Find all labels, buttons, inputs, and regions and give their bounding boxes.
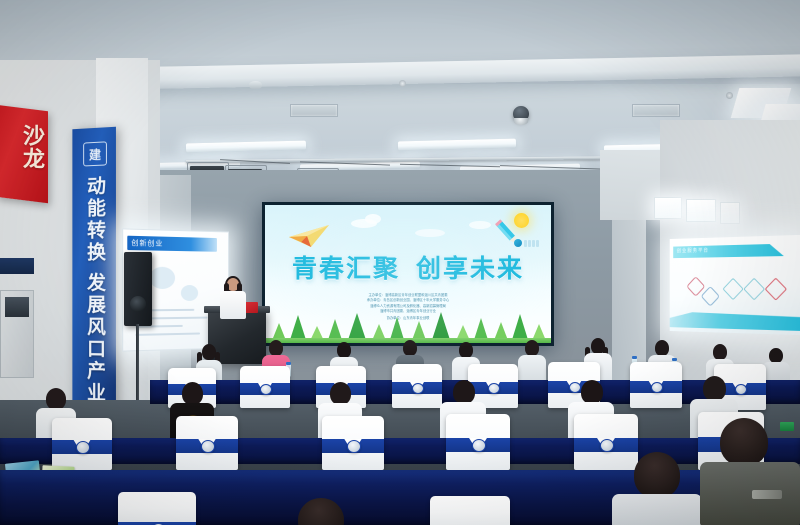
lightbox-header-text: 创新创业: [131, 238, 163, 249]
dome-camera-lens: [514, 118, 528, 125]
cloud-icon: [365, 214, 381, 224]
screen-brand-mark: [514, 239, 539, 247]
lightbox-graphic: [149, 267, 175, 289]
audience-chair: [176, 416, 238, 470]
shirt-logo: [752, 490, 782, 499]
chair-buckle: [600, 439, 614, 452]
presentation-title: 青春汇聚创享未来: [265, 249, 551, 285]
wall-unit-screen: [5, 297, 29, 317]
diamond-icon: [701, 286, 720, 307]
alert-diamond-icon: [765, 277, 788, 300]
smoke-detector-icon: [249, 81, 262, 89]
audience-chair: [240, 366, 290, 408]
attendee: [518, 340, 546, 384]
audience-chair: [322, 416, 384, 470]
clerestory-window: [686, 199, 716, 222]
presenter-body: [220, 291, 246, 319]
sprinkler-head-icon: [726, 92, 733, 99]
audience-chair: [630, 362, 682, 408]
attendee: [700, 418, 800, 525]
audience-chair: [118, 492, 196, 525]
screen-surface: 青春汇聚创享未来 主办单位：淄博高新区青年创业联盟和淄川区共青团委 承办单位：青…: [265, 205, 551, 343]
chair-buckle: [412, 383, 424, 394]
lightbox-text-line: [135, 333, 200, 336]
wall-signage-strip: [0, 258, 34, 274]
chair-buckle: [347, 440, 361, 453]
presentation-title-part2: 创享未来: [416, 254, 524, 283]
chair-buckle: [201, 440, 215, 453]
pa-speaker-cabinet: [124, 252, 152, 326]
tree-decoration-row: [265, 309, 551, 343]
attendee: [274, 498, 368, 525]
speaker-cone-icon: [130, 296, 146, 312]
brand-bars-icon: [524, 240, 539, 247]
audience-chair: [430, 496, 510, 525]
chair-buckle: [472, 439, 486, 452]
paper-plane-icon: [287, 223, 331, 249]
audience-chair: [446, 414, 510, 470]
lightbox-graphic: [181, 285, 198, 301]
air-vent: [632, 104, 680, 117]
audience-chair: [52, 418, 112, 470]
audience-chair: [392, 364, 442, 408]
main-presentation-screen: 青春汇聚创享未来 主办单位：淄博高新区青年创业联盟和淄川区共青团委 承办单位：青…: [262, 202, 554, 346]
cloud-icon: [415, 229, 445, 237]
banner-logo-icon: 建: [83, 141, 107, 166]
brand-dot-icon: [514, 239, 522, 247]
right-wall-display: 创业服务平台: [670, 235, 800, 335]
chair-buckle: [260, 384, 272, 395]
right-display-footer: [670, 312, 800, 331]
chair-cover: [118, 492, 196, 525]
cloud-icon: [469, 221, 491, 229]
right-display-header-text: 创业服务平台: [677, 247, 709, 255]
diamond-icon: [743, 278, 765, 301]
chair-buckle: [488, 383, 500, 394]
presenter: [216, 278, 250, 318]
exit-sign: [780, 422, 794, 431]
chair-buckle: [651, 382, 663, 393]
conference-hall-photo: 沙龙 建 动能转换 发展风口产业 创新创业: [0, 0, 800, 525]
attendee: [612, 452, 702, 525]
sprinkler-head-icon: [399, 80, 406, 87]
presentation-title-part1: 青春汇聚: [292, 254, 400, 283]
chair-cover: [430, 496, 510, 525]
wall-mounted-unit: [0, 290, 34, 378]
air-vent: [290, 104, 338, 117]
clerestory-window: [720, 202, 740, 224]
red-banner-text: 沙龙: [0, 123, 44, 170]
red-hanging-banner: 沙龙: [0, 105, 48, 203]
chair-buckle: [76, 441, 90, 454]
clerestory-window: [654, 197, 682, 219]
diamond-icon: [722, 278, 743, 301]
